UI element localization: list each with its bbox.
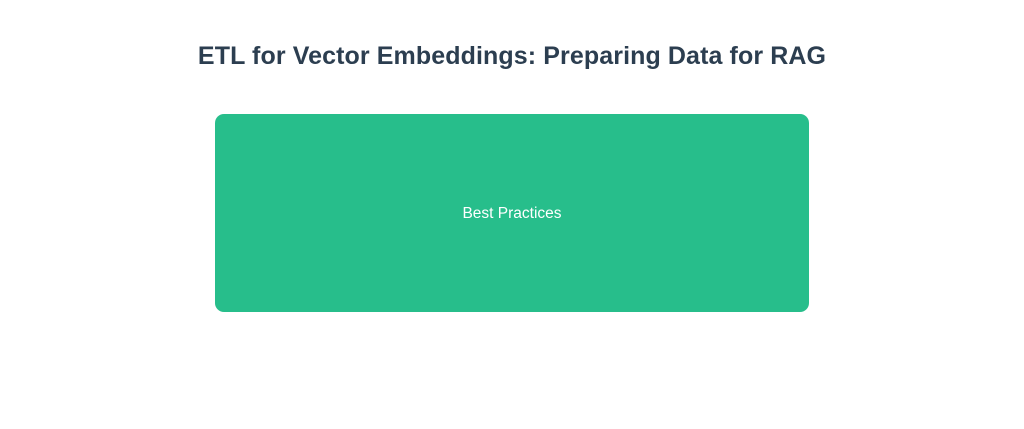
diagram-canvas: ETL for Vector Embeddings: Preparing Dat… [0,0,1024,429]
diagram-node-best-practices[interactable]: Best Practices [215,114,809,312]
diagram-node-label: Best Practices [462,204,561,224]
page-title: ETL for Vector Embeddings: Preparing Dat… [0,41,1024,71]
